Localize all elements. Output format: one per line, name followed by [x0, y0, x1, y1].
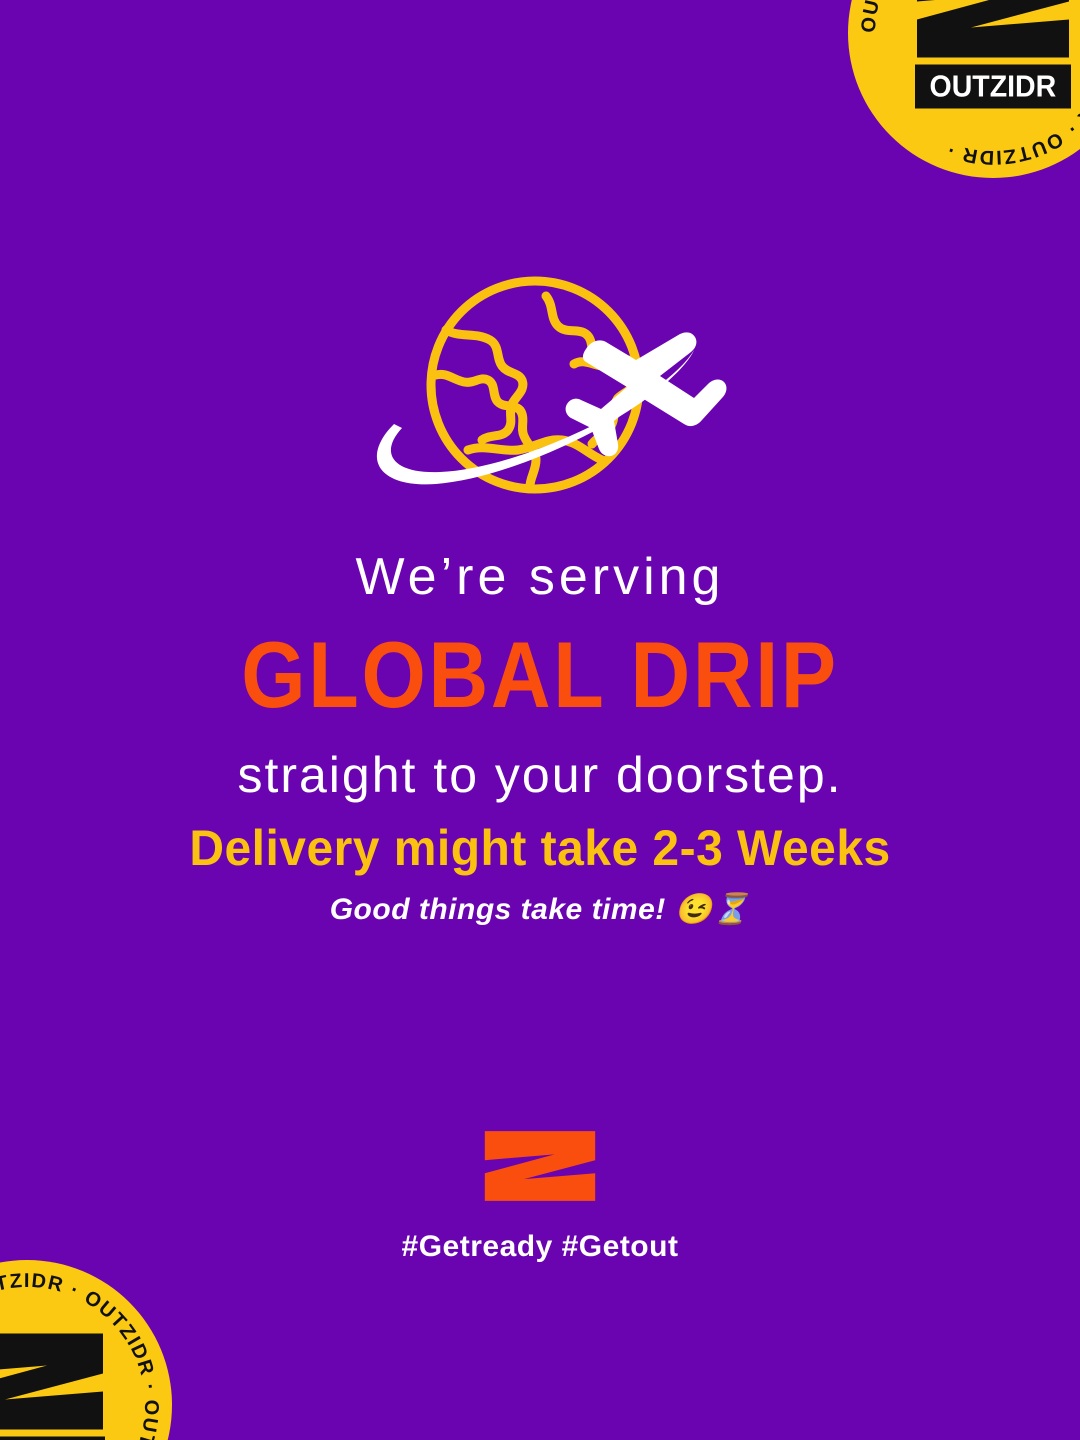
globe-airplane-icon — [350, 272, 730, 512]
badge-wordmark-bottom-left: OUTZIDR — [0, 1437, 105, 1440]
outzidr-badge-top-right: OUTZIDR · OUTZIDR · OUTZIDR · OUTZIDR · … — [848, 0, 1080, 178]
subhead-text: straight to your doorstep. — [0, 745, 1080, 805]
copy-block: We’re serving GLOBAL DRIP straight to yo… — [0, 548, 1080, 805]
z-logo-icon — [479, 1122, 601, 1210]
footer-block: #Getready #Getout — [0, 1122, 1080, 1264]
badge-wordmark-top-right: OUTZIDR — [915, 65, 1071, 109]
badge-core-top-right: OUTZIDR — [902, 0, 1080, 109]
outzidr-badge-bottom-left: OUTZIDR · OUTZIDR · OUTZIDR · OUTZIDR · … — [0, 1260, 172, 1440]
badge-wordmark-label-top-right: OUTZIDR — [930, 71, 1057, 102]
delivery-notice-text: Delivery might take 2-3 Weeks — [22, 820, 1059, 878]
badge-core-bottom-left: OUTZIDR — [0, 1330, 118, 1440]
z-logo-icon — [0, 1330, 111, 1434]
delivery-reassurance-text: Good things take time! 😉⏳ — [0, 892, 1080, 928]
poster-canvas: OUTZIDR · OUTZIDR · OUTZIDR · OUTZIDR · … — [0, 0, 1080, 1440]
eyebrow-text: We’re serving — [0, 548, 1080, 608]
z-logo-icon — [909, 0, 1077, 62]
headline-text: GLOBAL DRIP — [65, 622, 1015, 727]
airplane-icon — [566, 332, 727, 456]
hero-illustration — [0, 272, 1080, 512]
delivery-block: Delivery might take 2-3 Weeks Good thing… — [0, 820, 1080, 928]
hashtags-text: #Getready #Getout — [402, 1230, 679, 1264]
